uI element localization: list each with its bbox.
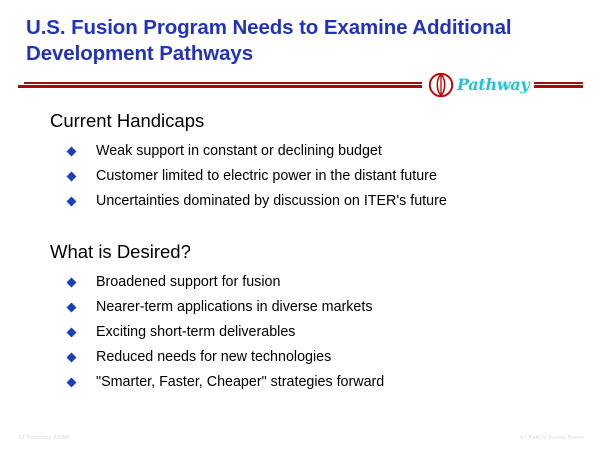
- list-item: Nearer-term applications in diverse mark…: [0, 296, 600, 319]
- slide-canvas: U.S. Fusion Program Needs to Examine Add…: [0, 0, 600, 450]
- bullet-list: Weak support in constant or declining bu…: [0, 140, 600, 213]
- list-item-label: Nearer-term applications in diverse mark…: [96, 299, 373, 315]
- diamond-bullet-icon: [67, 328, 77, 338]
- list-item-label: Weak support in constant or declining bu…: [96, 143, 382, 159]
- diamond-bullet-icon: [67, 172, 77, 182]
- section-what-is-desired: What is Desired? Broadened support for f…: [0, 239, 600, 394]
- diamond-bullet-icon: [67, 353, 77, 363]
- list-item-label: Customer limited to electric power in th…: [96, 168, 437, 184]
- list-item-label: Reduced needs for new technologies: [96, 349, 331, 365]
- divider-rule-right: [534, 82, 583, 88]
- list-item-label: Exciting short-term deliverables: [96, 324, 295, 340]
- title-line-2: Development Pathways: [26, 41, 574, 67]
- title-line-1: U.S. Fusion Program Needs to Examine Add…: [26, 15, 574, 41]
- list-item-label: Broadened support for fusion: [96, 274, 280, 290]
- slide-body: Current Handicaps Weak support in consta…: [0, 108, 600, 400]
- title-divider: Pathway: [0, 80, 600, 104]
- section-spacer: [0, 219, 600, 239]
- diamond-bullet-icon: [67, 197, 77, 207]
- list-item-label: Uncertainties dominated by discussion on…: [96, 193, 447, 209]
- section-current-handicaps: Current Handicaps Weak support in consta…: [0, 108, 600, 213]
- divider-rule-left-thick: [18, 85, 422, 88]
- divider-rule-left-thin: [24, 82, 422, 84]
- footer-right-text: ST Path to Fusion Power: [520, 435, 584, 441]
- page-title: U.S. Fusion Program Needs to Examine Add…: [26, 15, 574, 67]
- footer-left-text: ST Summary 2/6/98: [18, 435, 69, 441]
- list-item-label: "Smarter, Faster, Cheaper" strategies fo…: [96, 374, 384, 390]
- divider-rule-left: [18, 82, 422, 88]
- tokamak-circle-icon: [428, 72, 454, 98]
- diamond-bullet-icon: [67, 147, 77, 157]
- list-item: Exciting short-term deliverables: [0, 321, 600, 344]
- list-item: Broadened support for fusion: [0, 271, 600, 294]
- bullet-list: Broadened support for fusion Nearer-term…: [0, 271, 600, 394]
- list-item: "Smarter, Faster, Cheaper" strategies fo…: [0, 371, 600, 394]
- list-item: Weak support in constant or declining bu…: [0, 140, 600, 163]
- diamond-bullet-icon: [67, 278, 77, 288]
- divider-rule-right-thick: [534, 85, 583, 88]
- section-heading: What is Desired?: [50, 239, 600, 265]
- diamond-bullet-icon: [67, 303, 77, 313]
- list-item: Uncertainties dominated by discussion on…: [0, 190, 600, 213]
- diamond-bullet-icon: [67, 378, 77, 388]
- divider-rule-right-thin: [534, 82, 583, 84]
- list-item: Customer limited to electric power in th…: [0, 165, 600, 188]
- section-heading: Current Handicaps: [50, 108, 600, 134]
- pathway-logo-text: Pathway: [457, 72, 529, 98]
- list-item: Reduced needs for new technologies: [0, 346, 600, 369]
- pathway-logo: Pathway: [428, 70, 529, 100]
